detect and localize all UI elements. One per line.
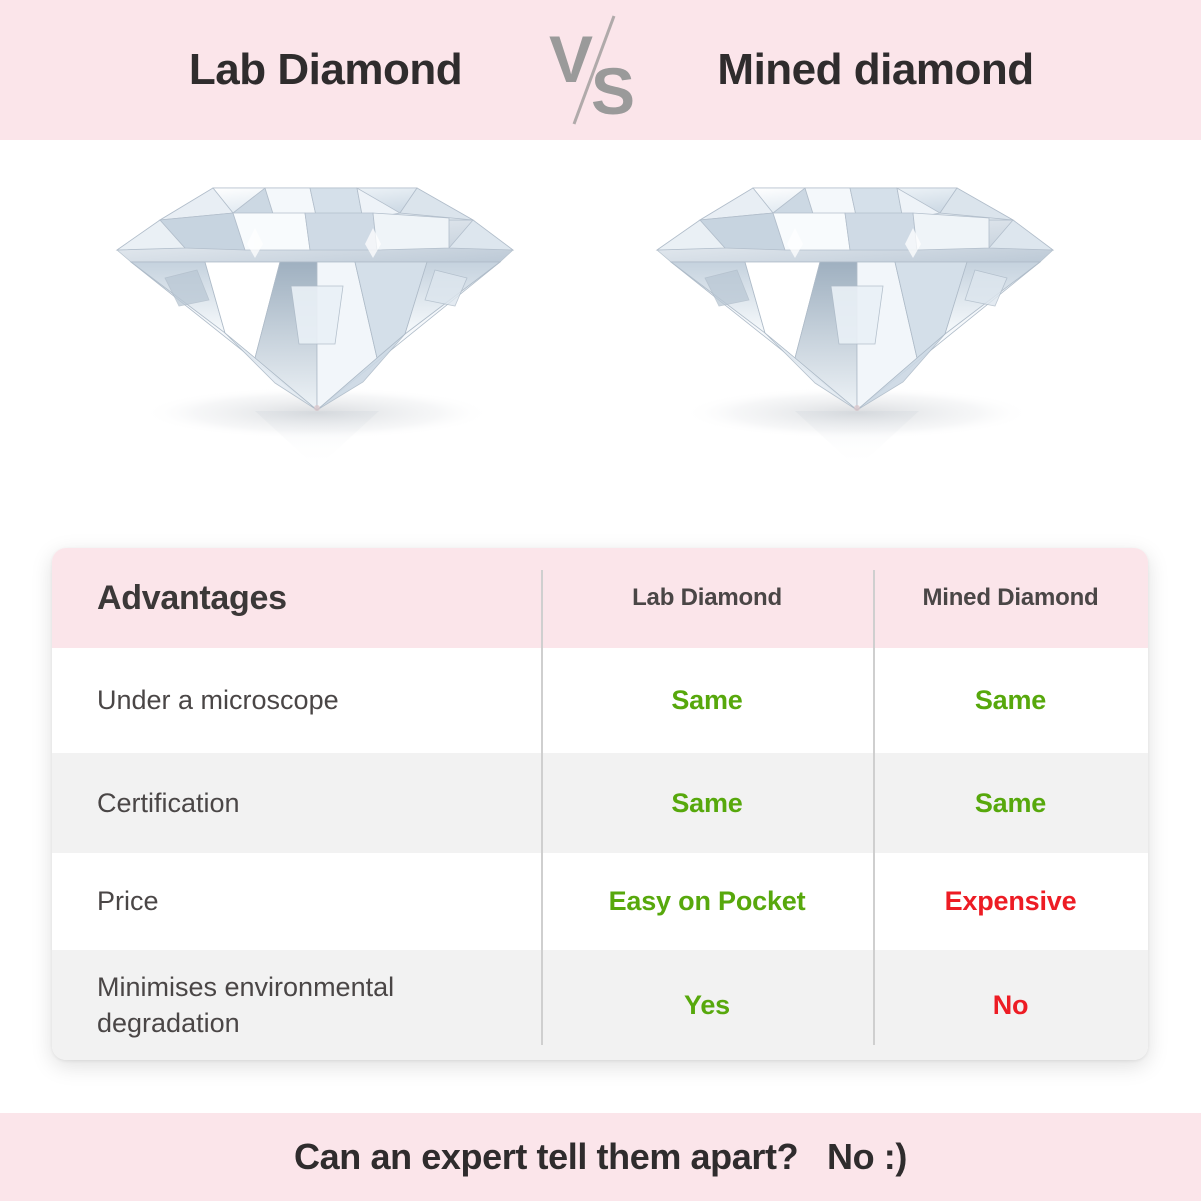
row-value-lab: Easy on Pocket [609,886,806,916]
row-value-mined: Same [975,788,1046,818]
column-header-advantages: Advantages [52,579,541,618]
vs-letter-s: S [590,54,634,128]
table-row: Under a microscope Same Same [52,648,1148,753]
lab-diamond-image [105,158,525,488]
row-feature-label: Price [52,883,541,919]
diamond-illustration [105,158,525,488]
row-value-mined: Expensive [945,886,1077,916]
vs-letter-v: V [548,22,592,96]
row-value-lab: Yes [684,990,730,1020]
page-title-mined-diamond: Mined diamond [661,45,1091,95]
table-row: Certification Same Same [52,753,1148,853]
row-value-lab: Same [671,788,742,818]
column-divider-2 [873,570,875,1045]
table-row: Price Easy on Pocket Expensive [52,853,1148,950]
diamond-illustration [645,158,1065,488]
row-feature-label: Under a microscope [52,682,541,718]
infographic-page: Lab Diamond V S Mined diamond [0,0,1201,1201]
mined-diamond-image [645,158,1065,488]
versus-badge: V S [541,10,661,130]
comparison-card: Advantages Lab Diamond Mined Diamond Und… [52,548,1148,1060]
row-feature-label: Minimises environmental degradation [52,969,541,1042]
comparison-table: Advantages Lab Diamond Mined Diamond Und… [52,548,1148,1060]
header-banner: Lab Diamond V S Mined diamond [0,0,1201,140]
column-header-mined-diamond: Mined Diamond [873,584,1148,612]
row-value-mined: Same [975,685,1046,715]
column-divider-1 [541,570,543,1045]
column-header-lab-diamond: Lab Diamond [541,584,873,612]
row-value-lab: Same [671,685,742,715]
table-header-row: Advantages Lab Diamond Mined Diamond [52,548,1148,648]
row-feature-label: Certification [52,785,541,821]
diamond-reflection [795,411,919,468]
table-row: Minimises environmental degradation Yes … [52,950,1148,1060]
diamond-reflection [255,411,379,468]
row-value-mined: No [993,990,1029,1020]
diamond-image-row [0,140,1201,530]
vs-icon: V S [541,10,661,130]
footer-banner: Can an expert tell them apart? No :) [0,1113,1201,1201]
footer-question-answer: Can an expert tell them apart? No :) [294,1136,907,1178]
page-title-lab-diamond: Lab Diamond [111,45,541,95]
